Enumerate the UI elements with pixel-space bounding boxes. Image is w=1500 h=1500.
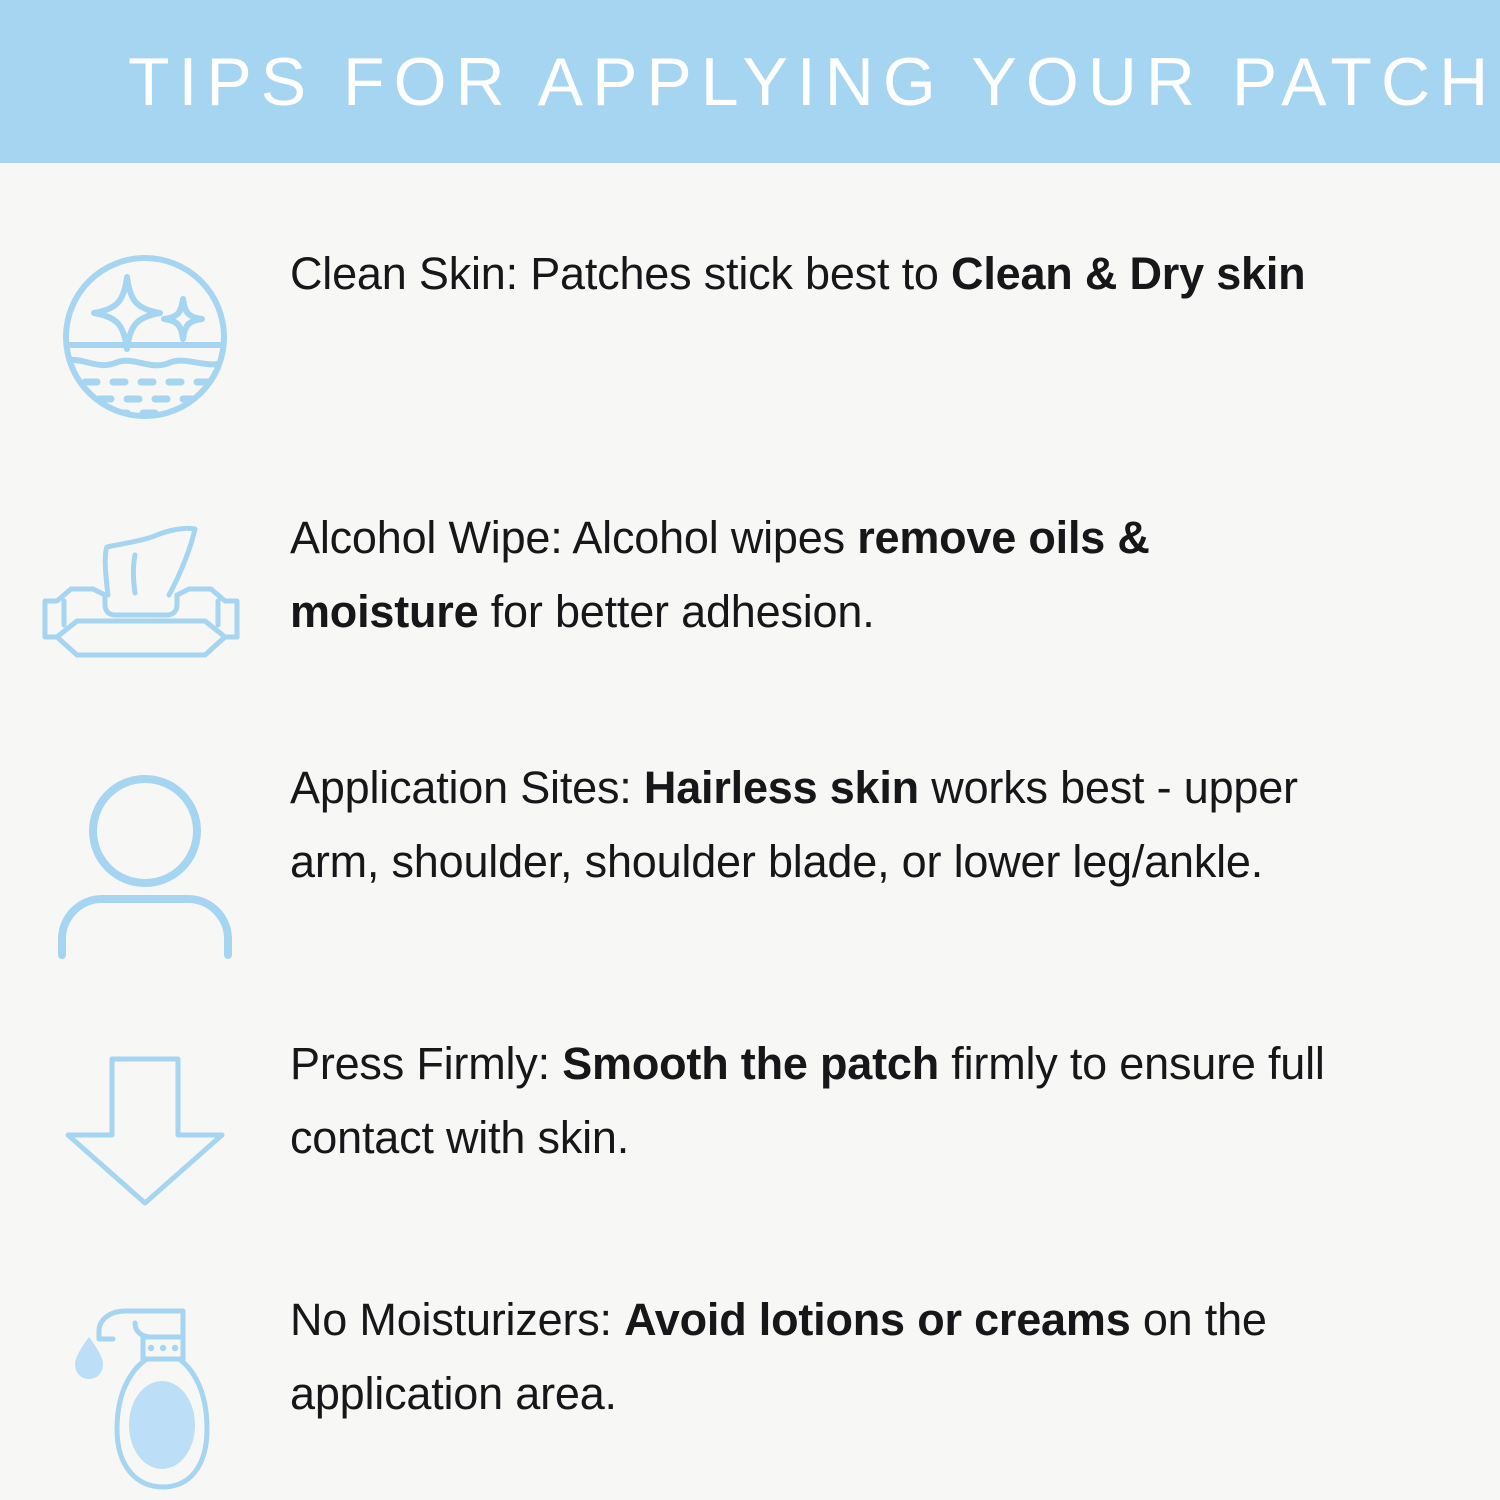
page-title: TIPS FOR APPLYING YOUR PATCH xyxy=(128,48,1497,116)
tip-bold: Avoid lotions or creams xyxy=(624,1294,1130,1345)
tip-lead: Press Firmly: xyxy=(290,1038,562,1089)
tip-text: Clean Skin: Patches stick best to Clean … xyxy=(290,237,1325,311)
tip-item: Application Sites: Hairless skin works b… xyxy=(0,751,1500,959)
tip-item: Clean Skin: Patches stick best to Clean … xyxy=(0,237,1500,425)
lotion-bottle-icon xyxy=(0,1283,290,1497)
tip-item: Press Firmly: Smooth the patch firmly to… xyxy=(0,1027,1500,1211)
person-icon xyxy=(0,751,290,959)
tip-lead: No Moisturizers: xyxy=(290,1294,624,1345)
tip-bold: Clean & Dry skin xyxy=(951,248,1305,299)
tip-text: Alcohol Wipe: Alcohol wipes remove oils … xyxy=(290,501,1325,649)
tip-text: Application Sites: Hairless skin works b… xyxy=(290,751,1325,899)
tip-lead: Alcohol Wipe: Alcohol wipes xyxy=(290,512,857,563)
tip-bold: Smooth the patch xyxy=(562,1038,939,1089)
tip-bold: Hairless skin xyxy=(644,762,919,813)
tip-text: No Moisturizers: Avoid lotions or creams… xyxy=(290,1283,1325,1431)
tips-list: Clean Skin: Patches stick best to Clean … xyxy=(0,163,1500,1497)
clean-skin-icon xyxy=(0,237,290,425)
tip-text: Press Firmly: Smooth the patch firmly to… xyxy=(290,1027,1325,1175)
tip-item: No Moisturizers: Avoid lotions or creams… xyxy=(0,1283,1500,1497)
infographic-page: TIPS FOR APPLYING YOUR PATCH xyxy=(0,0,1500,1500)
tip-lead: Clean Skin: Patches stick best to xyxy=(290,248,951,299)
tip-lead: Application Sites: xyxy=(290,762,644,813)
alcohol-wipes-icon xyxy=(0,501,290,671)
tip-tail: for better adhesion. xyxy=(478,586,874,637)
tip-item: Alcohol Wipe: Alcohol wipes remove oils … xyxy=(0,501,1500,671)
down-arrow-icon xyxy=(0,1027,290,1211)
header-banner: TIPS FOR APPLYING YOUR PATCH xyxy=(0,0,1500,163)
